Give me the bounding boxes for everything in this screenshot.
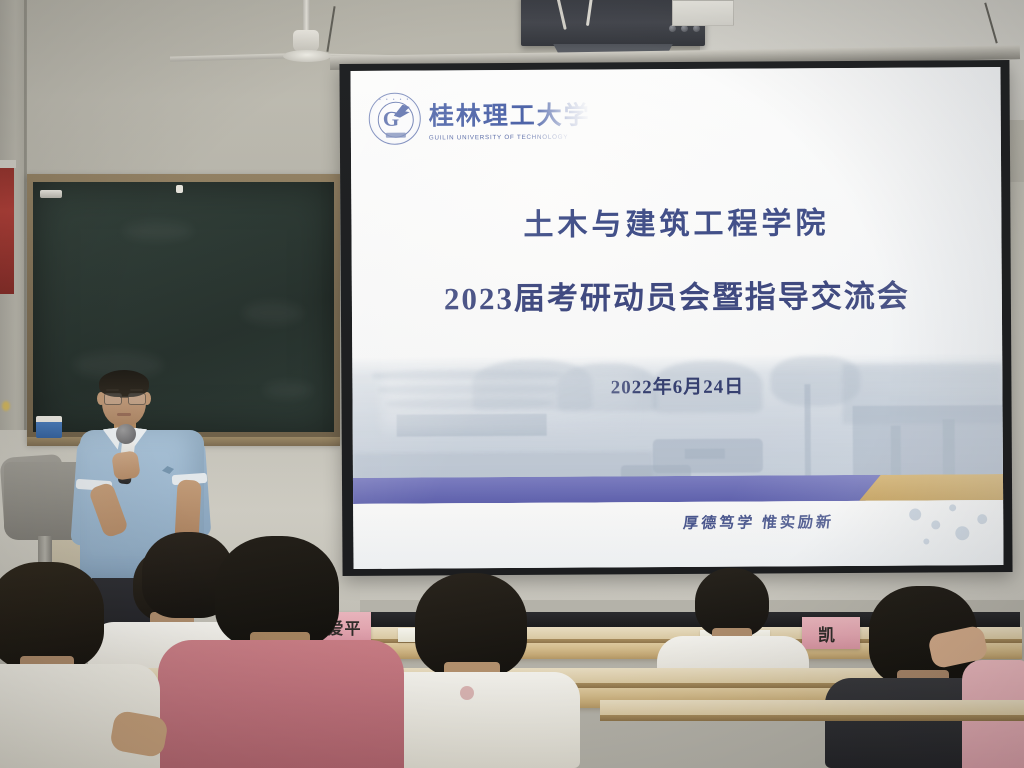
university-seal-icon: • • • • • G [369, 93, 421, 145]
name-card-text: 凯 [818, 621, 835, 646]
student-shirt [158, 640, 404, 768]
desk-row-2-top-right [600, 700, 1024, 716]
university-name-cn: 桂林理工大学 [429, 95, 591, 132]
red-wall-banner [0, 166, 14, 294]
ceiling-fan-motor [293, 30, 319, 52]
slide-gold-band [859, 474, 1004, 501]
seal-letter: G [383, 107, 399, 131]
blackboard-surface [33, 182, 334, 432]
projector-knob [693, 25, 700, 32]
chalk-box-lid [36, 416, 62, 422]
banner-emblem [2, 401, 10, 411]
presentation-slide: • • • • • G 桂林理工大学 GUILIN UNIVERSITY OF … [350, 67, 1003, 569]
slide-motto: 厚德笃学 惟实励新 [682, 511, 835, 533]
slide-date: 2022年6月24日 [352, 370, 1002, 401]
banner-top-rail [0, 160, 16, 168]
wall-junction-box [672, 0, 734, 26]
shirt-graphic [460, 686, 474, 700]
slide-logo: • • • • • G 桂林理工大学 GUILIN UNIVERSITY OF … [369, 92, 591, 145]
seal-year [386, 133, 406, 138]
name-card: 凯 [802, 617, 860, 649]
university-name-en: GUILIN UNIVERSITY OF TECHNOLOGY [429, 133, 591, 141]
presenter-mouth [117, 413, 131, 416]
presenter-hand [111, 450, 141, 480]
blackboard-eraser[interactable] [40, 190, 62, 198]
slide-title-line1: 土木与建筑工程学院 [351, 197, 1001, 245]
glasses-icon [104, 393, 122, 405]
ceiling-fan-rod [303, 0, 310, 34]
lecture-hall-photo: • • • • • G 桂林理工大学 GUILIN UNIVERSITY OF … [0, 0, 1024, 768]
slide-footer [353, 500, 1003, 569]
slide-title-line2: 2023届考研动员会暨指导交流会 [352, 270, 1002, 319]
ceiling-fan-hub [283, 50, 331, 62]
projector-knob [681, 25, 688, 32]
projector-knob [669, 25, 676, 32]
slide-purple-band [350, 475, 887, 504]
glasses-bridge [120, 396, 128, 398]
student-head [0, 562, 104, 670]
glasses-icon [128, 393, 146, 405]
projection-screen: • • • • • G 桂林理工大学 GUILIN UNIVERSITY OF … [350, 67, 1003, 569]
microphone-icon[interactable] [116, 424, 136, 444]
blackboard-magnet[interactable] [176, 185, 183, 193]
desk-row-2-edge-right [600, 715, 1024, 721]
